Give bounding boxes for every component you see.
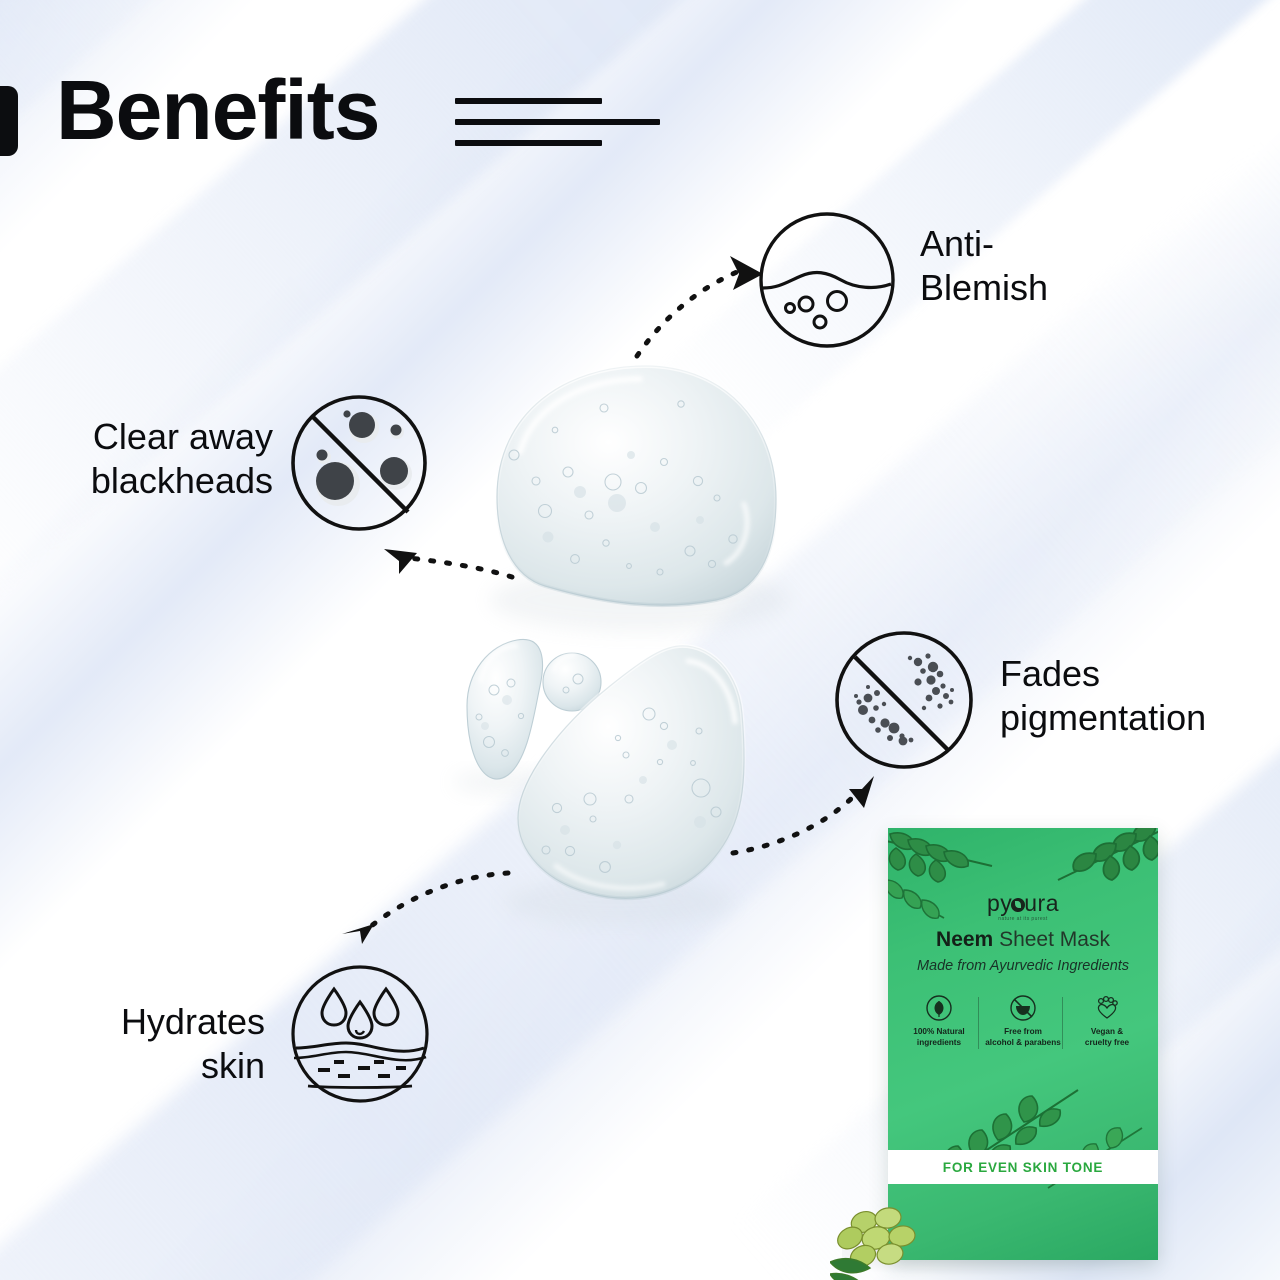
benefits-infographic: Benefits xyxy=(0,0,1280,1280)
product-subtitle: Made from Ayurvedic Ingredients xyxy=(888,958,1158,974)
product-claim-text: FOR EVEN SKIN TONE xyxy=(943,1160,1103,1175)
vegan-cruelty-free-icon xyxy=(1066,993,1148,1023)
benefit-label-anti-blemish: Anti- Blemish xyxy=(920,222,1048,310)
benefit-label-hydrates-skin: Hydrates skin xyxy=(60,1000,265,1088)
product-name-bold: Neem xyxy=(936,928,993,951)
benefit-label-blackheads: Clear away blackheads xyxy=(55,415,273,503)
brand-name-part1: py xyxy=(987,890,1012,916)
product-claim-band: FOR EVEN SKIN TONE xyxy=(888,1150,1158,1184)
badge-label: Vegan & cruelty free xyxy=(1066,1027,1148,1048)
arrow-to-hydrates xyxy=(370,873,508,927)
pigmentation-crossed-circle-icon xyxy=(832,628,976,777)
arrow-to-anti-blemish xyxy=(637,272,737,356)
product-name: Neem Sheet Mask xyxy=(888,928,1158,952)
arrow-head xyxy=(384,549,417,574)
badge-label: 100% Natural ingredients xyxy=(898,1027,980,1048)
product-badges: 100% Natural ingredients Free from alcoh… xyxy=(898,993,1148,1048)
badge-vegan-cruelty-free: Vegan & cruelty free xyxy=(1066,993,1148,1048)
hydration-droplets-circle-icon xyxy=(288,962,432,1111)
badge-natural-ingredients: 100% Natural ingredients xyxy=(898,993,980,1048)
arrow-to-pigmentation xyxy=(733,795,855,853)
blackheads-crossed-circle-icon xyxy=(288,392,430,539)
brand-tagline: nature at its purest xyxy=(888,916,1158,922)
arrow-head xyxy=(342,924,374,944)
product-name-rest: Sheet Mask xyxy=(993,928,1110,951)
blemish-circle-icon xyxy=(757,210,897,355)
arrow-head xyxy=(849,776,874,808)
leaf-in-circle-icon xyxy=(898,993,980,1023)
brand-logo: pyura xyxy=(888,890,1158,917)
brand-name-part2: ura xyxy=(1024,890,1059,916)
no-alcohol-icon xyxy=(982,993,1064,1023)
neem-fruit-cluster xyxy=(830,1196,960,1280)
badge-label: Free from alcohol & parabens xyxy=(982,1027,1064,1048)
medium-gel-drop xyxy=(467,639,543,779)
badge-free-from-alcohol: Free from alcohol & parabens xyxy=(982,993,1064,1048)
arrow-to-blackheads xyxy=(409,558,512,577)
large-gel-blob xyxy=(497,366,776,605)
benefit-label-pigmentation: Fades pigmentation xyxy=(1000,652,1206,740)
